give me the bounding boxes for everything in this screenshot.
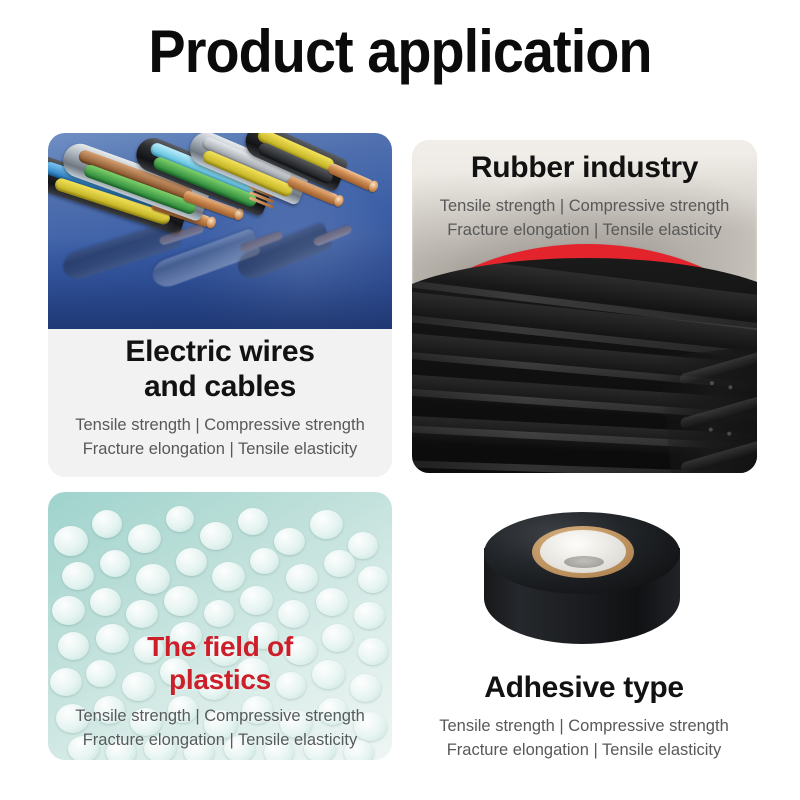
card-features-line-2: Fracture elongation | Tensile elasticity [58, 437, 382, 461]
plastic-pellet [274, 528, 305, 555]
card-features-line-1: Tensile strength | Compressive strength [408, 714, 760, 738]
card-features-line-1: Tensile strength | Compressive strength [420, 194, 749, 218]
tire-sidewall-lug [679, 349, 757, 387]
card-caption: The field of plastics Tensile strength |… [48, 630, 392, 752]
tire-sidewall-dimple [710, 381, 714, 385]
tire-sidewall [659, 341, 757, 473]
plastic-pellet [136, 564, 170, 594]
card-adhesive-type[interactable]: Adhesive type Tensile strength | Compres… [408, 500, 760, 768]
card-caption: Adhesive type Tensile strength | Compres… [408, 670, 760, 762]
tire-sidewall-dimple [728, 385, 732, 389]
card-features: Tensile strength | Compressive strength … [48, 704, 392, 752]
plastic-pellet [126, 600, 158, 628]
electric-cables-photo [48, 133, 392, 329]
card-the-field-of-plastics[interactable]: The field of plastics Tensile strength |… [48, 492, 392, 760]
plastic-pellet [324, 550, 355, 577]
plastic-pellet [286, 564, 318, 592]
card-features-line-2: Fracture elongation | Tensile elasticity [48, 728, 392, 752]
card-heading-line-1: The field of [48, 630, 392, 663]
tire-tread-photo [412, 258, 757, 473]
page-title: Product application [28, 16, 772, 88]
plastic-pellet [310, 510, 343, 539]
plastic-pellet [52, 596, 85, 625]
card-heading-line-1: Electric wires [58, 334, 382, 369]
plastic-pellet [250, 548, 279, 574]
tire-sidewall-dimple [709, 427, 713, 431]
tire-sidewall-lug [679, 393, 757, 431]
tire-sidewall-lug [680, 437, 757, 473]
card-heading: The field of plastics [48, 630, 392, 696]
card-features-line-2: Fracture elongation | Tensile elasticity [408, 738, 760, 762]
card-features: Tensile strength | Compressive strength … [408, 714, 760, 762]
tape-core-hole [564, 556, 604, 568]
plastic-pellet [90, 588, 121, 616]
tire-sidewall-dimple [727, 431, 731, 435]
card-electric-wires-and-cables[interactable]: Electric wires and cables Tensile streng… [48, 133, 392, 477]
card-caption: Electric wires and cables Tensile streng… [48, 320, 392, 477]
black-tape-roll-photo [476, 508, 688, 666]
card-heading: Electric wires and cables [58, 334, 382, 404]
plastic-pellet [278, 600, 309, 628]
plastic-pellet [316, 588, 348, 616]
plastic-pellet [200, 522, 232, 550]
card-heading: Adhesive type [408, 670, 760, 705]
plastic-pellet [62, 562, 94, 590]
card-features: Tensile strength | Compressive strength … [58, 413, 382, 461]
plastic-pellet [204, 600, 234, 627]
plastic-pellet [240, 586, 273, 615]
card-heading-line-2: plastics [48, 663, 392, 696]
card-features: Tensile strength | Compressive strength … [420, 194, 749, 242]
plastic-pellet [164, 586, 198, 616]
plastic-pellet [92, 510, 122, 538]
plastic-pellet [54, 526, 88, 556]
plastic-pellet [128, 524, 161, 553]
plastic-pellet [100, 550, 130, 577]
card-heading: Rubber industry [420, 150, 749, 185]
plastic-pellet [166, 506, 194, 532]
product-application-poster: Product application [0, 0, 800, 800]
card-heading-line-2: and cables [58, 369, 382, 404]
card-features-line-1: Tensile strength | Compressive strength [48, 704, 392, 728]
plastic-pellet [354, 602, 385, 629]
card-features-line-1: Tensile strength | Compressive strength [58, 413, 382, 437]
card-caption: Rubber industry Tensile strength | Compr… [412, 150, 757, 242]
plastic-pellet [212, 562, 245, 591]
plastic-pellet [238, 508, 268, 535]
plastic-pellet [176, 548, 207, 576]
plastic-pellet [348, 532, 378, 559]
plastic-pellet [358, 566, 388, 593]
card-rubber-industry[interactable]: Rubber industry Tensile strength | Compr… [412, 140, 757, 473]
card-features-line-2: Fracture elongation | Tensile elasticity [420, 218, 749, 242]
